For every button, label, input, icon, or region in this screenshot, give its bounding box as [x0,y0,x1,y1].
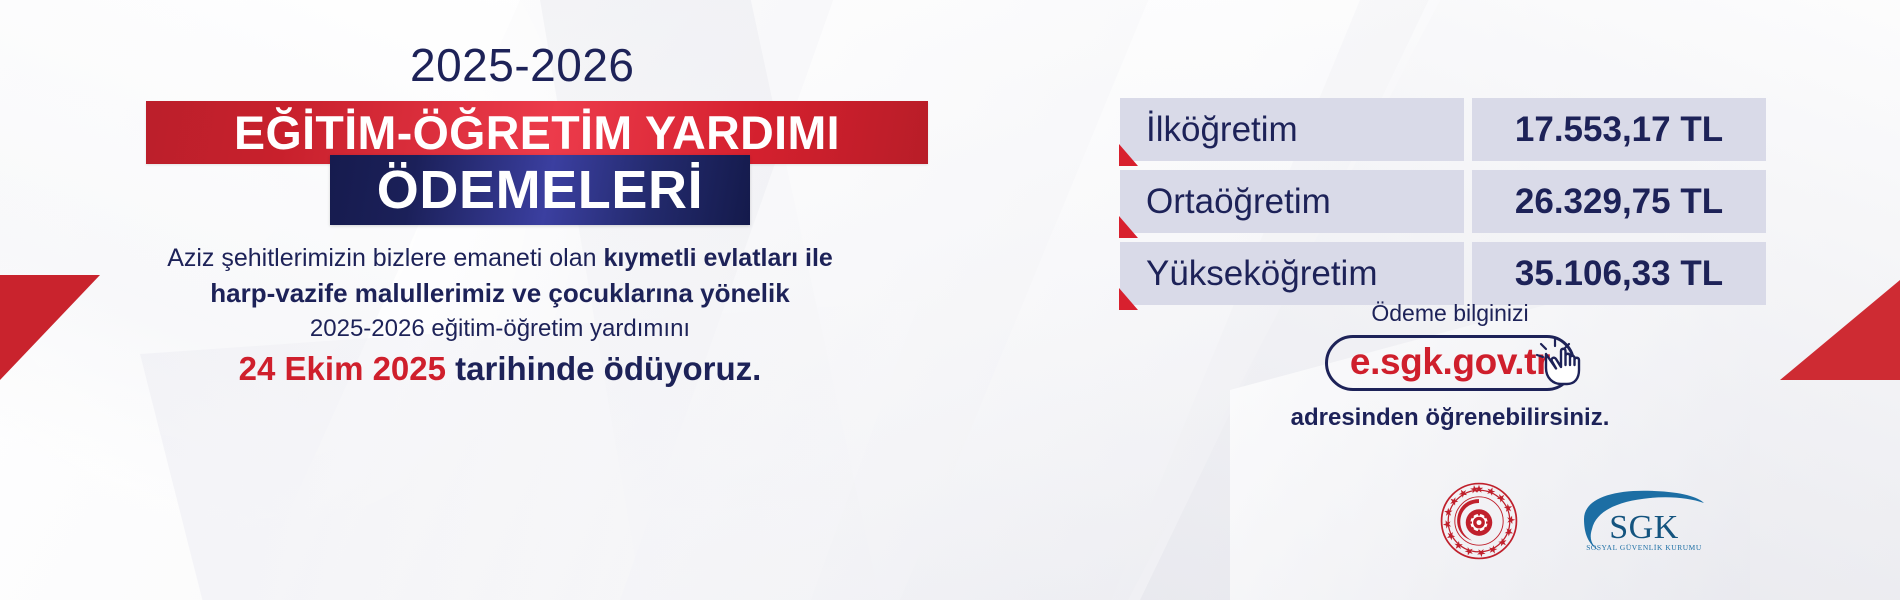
academic-year-label: 2025-2026 [410,38,634,92]
amount-cell: 35.106,33 TL [1472,242,1766,305]
amount-cell: 17.553,17 TL [1472,98,1766,161]
table-row: İlköğretim 17.553,17 TL [1120,98,1768,161]
logo-row: · SGK SOSYAL GÜVENLİK KURUMU [1440,482,1710,560]
amounts-column: İlköğretim 17.553,17 TL Ortaöğretim 26.3… [1000,0,1900,600]
education-level-cell: Yükseköğretim [1120,242,1464,305]
sgk-full-text: SOSYAL GÜVENLİK KURUMU [1586,543,1702,552]
description-line-1-normal: Aziz şehitlerimizin bizlere emaneti olan [167,244,603,272]
description-line-1: Aziz şehitlerimizin bizlere emaneti olan… [0,243,1000,274]
table-row: Ortaöğretim 26.329,75 TL [1120,170,1768,233]
education-level-cell: Ortaöğretim [1120,170,1464,233]
table-row: Yükseköğretim 35.106,33 TL [1120,242,1768,305]
description-paragraph: Aziz şehitlerimizin bizlere emaneti olan… [0,243,1000,390]
title-band-blue: ÖDEMELERİ [330,155,750,225]
sgk-abbr-text: SGK [1609,509,1679,546]
payment-date-suffix: tarihinde ödüyoruz. [446,350,761,387]
payment-info-bottom-text: adresinden öğrenebilirsiniz. [1000,404,1900,432]
payment-info-block: Ödeme bilginizi e.sgk.gov.tr [1000,300,1900,432]
ministry-of-labour-logo: · [1440,482,1518,560]
payment-amounts-table: İlköğretim 17.553,17 TL Ortaöğretim 26.3… [1120,98,1768,314]
esgk-url-button[interactable]: e.sgk.gov.tr [1325,335,1575,391]
title-red-text: EĞİTİM-ÖĞRETİM YARDIMI [234,105,840,160]
sgk-logo: SGK SOSYAL GÜVENLİK KURUMU [1578,485,1710,557]
headline-column: 2025-2026 EĞİTİM-ÖĞRETİM YARDIMI ÖDEMELE… [0,0,1000,600]
payment-date: 24 Ekim 2025 [239,350,446,387]
description-line-4: 24 Ekim 2025 tarihinde ödüyoruz. [0,349,1000,389]
esgk-url-text: e.sgk.gov.tr [1350,341,1550,383]
sgk-education-aid-banner: 2025-2026 EĞİTİM-ÖĞRETİM YARDIMI ÖDEMELE… [0,0,1900,600]
description-line-3: 2025-2026 eğitim-öğretim yardımını [0,314,1000,343]
svg-text:·: · [1478,549,1479,553]
description-line-2: harp-vazife malullerimiz ve çocuklarına … [0,278,1000,310]
education-level-cell: İlköğretim [1120,98,1464,161]
payment-info-top-text: Ödeme bilginizi [1000,300,1900,327]
amount-cell: 26.329,75 TL [1472,170,1766,233]
description-line-1-bold: kıymetli evlatları ile [604,244,833,272]
hand-cursor-click-icon [1534,334,1586,390]
title-blue-text: ÖDEMELERİ [377,159,703,221]
